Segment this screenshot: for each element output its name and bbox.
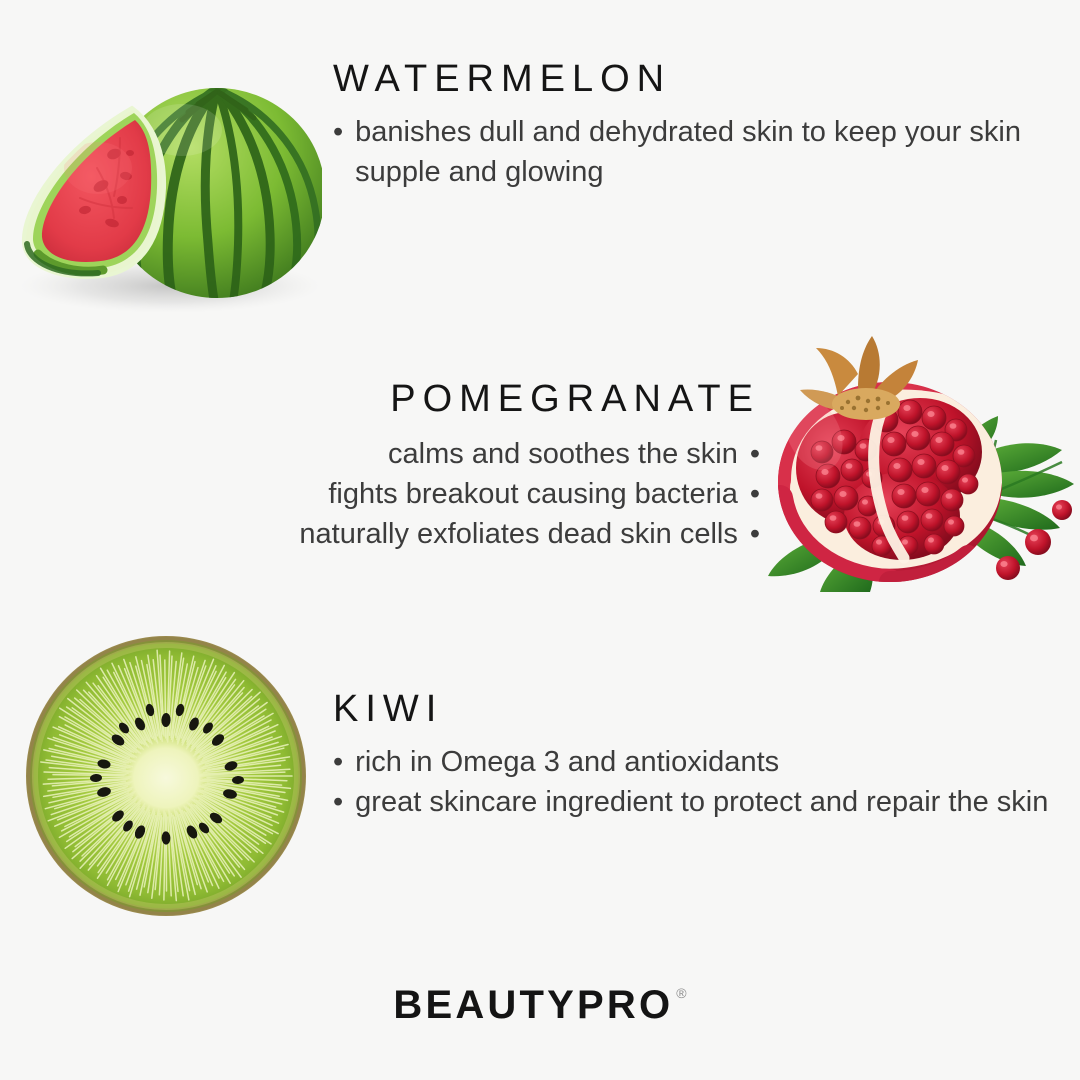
section-bullets-pomegranate: calms and soothes the skin • fights brea… (150, 434, 760, 554)
watermelon-wedge (24, 108, 164, 277)
bullet-text: great skincare ingredient to protect and… (355, 782, 1048, 822)
pomegranate-fruit (774, 336, 1003, 582)
brand-name: BEAUTYPRO (393, 985, 673, 1025)
section-bullets-watermelon: • banishes dull and dehydrated skin to k… (333, 112, 1063, 192)
kiwi-photo (22, 632, 310, 920)
brand-logo: BEAUTYPRO ® (0, 985, 1080, 1025)
section-pomegranate: POMEGRANATE calms and soothes the skin •… (150, 380, 760, 554)
bullet-dot-icon: • (333, 742, 343, 782)
bullet-text: rich in Omega 3 and antioxidants (355, 742, 779, 782)
bullet-text: calms and soothes the skin (388, 434, 738, 474)
section-heading-pomegranate: POMEGRANATE (150, 380, 760, 418)
section-heading-kiwi: KIWI (333, 690, 1063, 728)
bullet-text: fights breakout causing bacteria (328, 474, 737, 514)
bullet-item: • great skincare ingredient to protect a… (333, 782, 1063, 822)
bullet-dot-icon: • (333, 112, 343, 192)
pomegranate-photo (762, 330, 1080, 592)
watermelon-photo (2, 58, 322, 323)
section-kiwi: KIWI • rich in Omega 3 and antioxidants … (333, 690, 1063, 822)
section-heading-watermelon: WATERMELON (333, 60, 1063, 98)
section-watermelon: WATERMELON • banishes dull and dehydrate… (333, 60, 1063, 192)
bullet-item: naturally exfoliates dead skin cells • (150, 514, 760, 554)
bullet-item: • banishes dull and dehydrated skin to k… (333, 112, 1063, 192)
registered-trademark-icon: ® (676, 985, 686, 1001)
bullet-text: banishes dull and dehydrated skin to kee… (355, 112, 1063, 192)
bullet-item: calms and soothes the skin • (150, 434, 760, 474)
bullet-dot-icon: • (333, 782, 343, 822)
bullet-dot-icon: • (750, 514, 760, 554)
bullet-text: naturally exfoliates dead skin cells (299, 514, 737, 554)
infographic-page: WATERMELON • banishes dull and dehydrate… (0, 0, 1080, 1080)
bullet-item: • rich in Omega 3 and antioxidants (333, 742, 1063, 782)
section-bullets-kiwi: • rich in Omega 3 and antioxidants • gre… (333, 742, 1063, 822)
bullet-item: fights breakout causing bacteria • (150, 474, 760, 514)
bullet-dot-icon: • (750, 474, 760, 514)
bullet-dot-icon: • (750, 434, 760, 474)
